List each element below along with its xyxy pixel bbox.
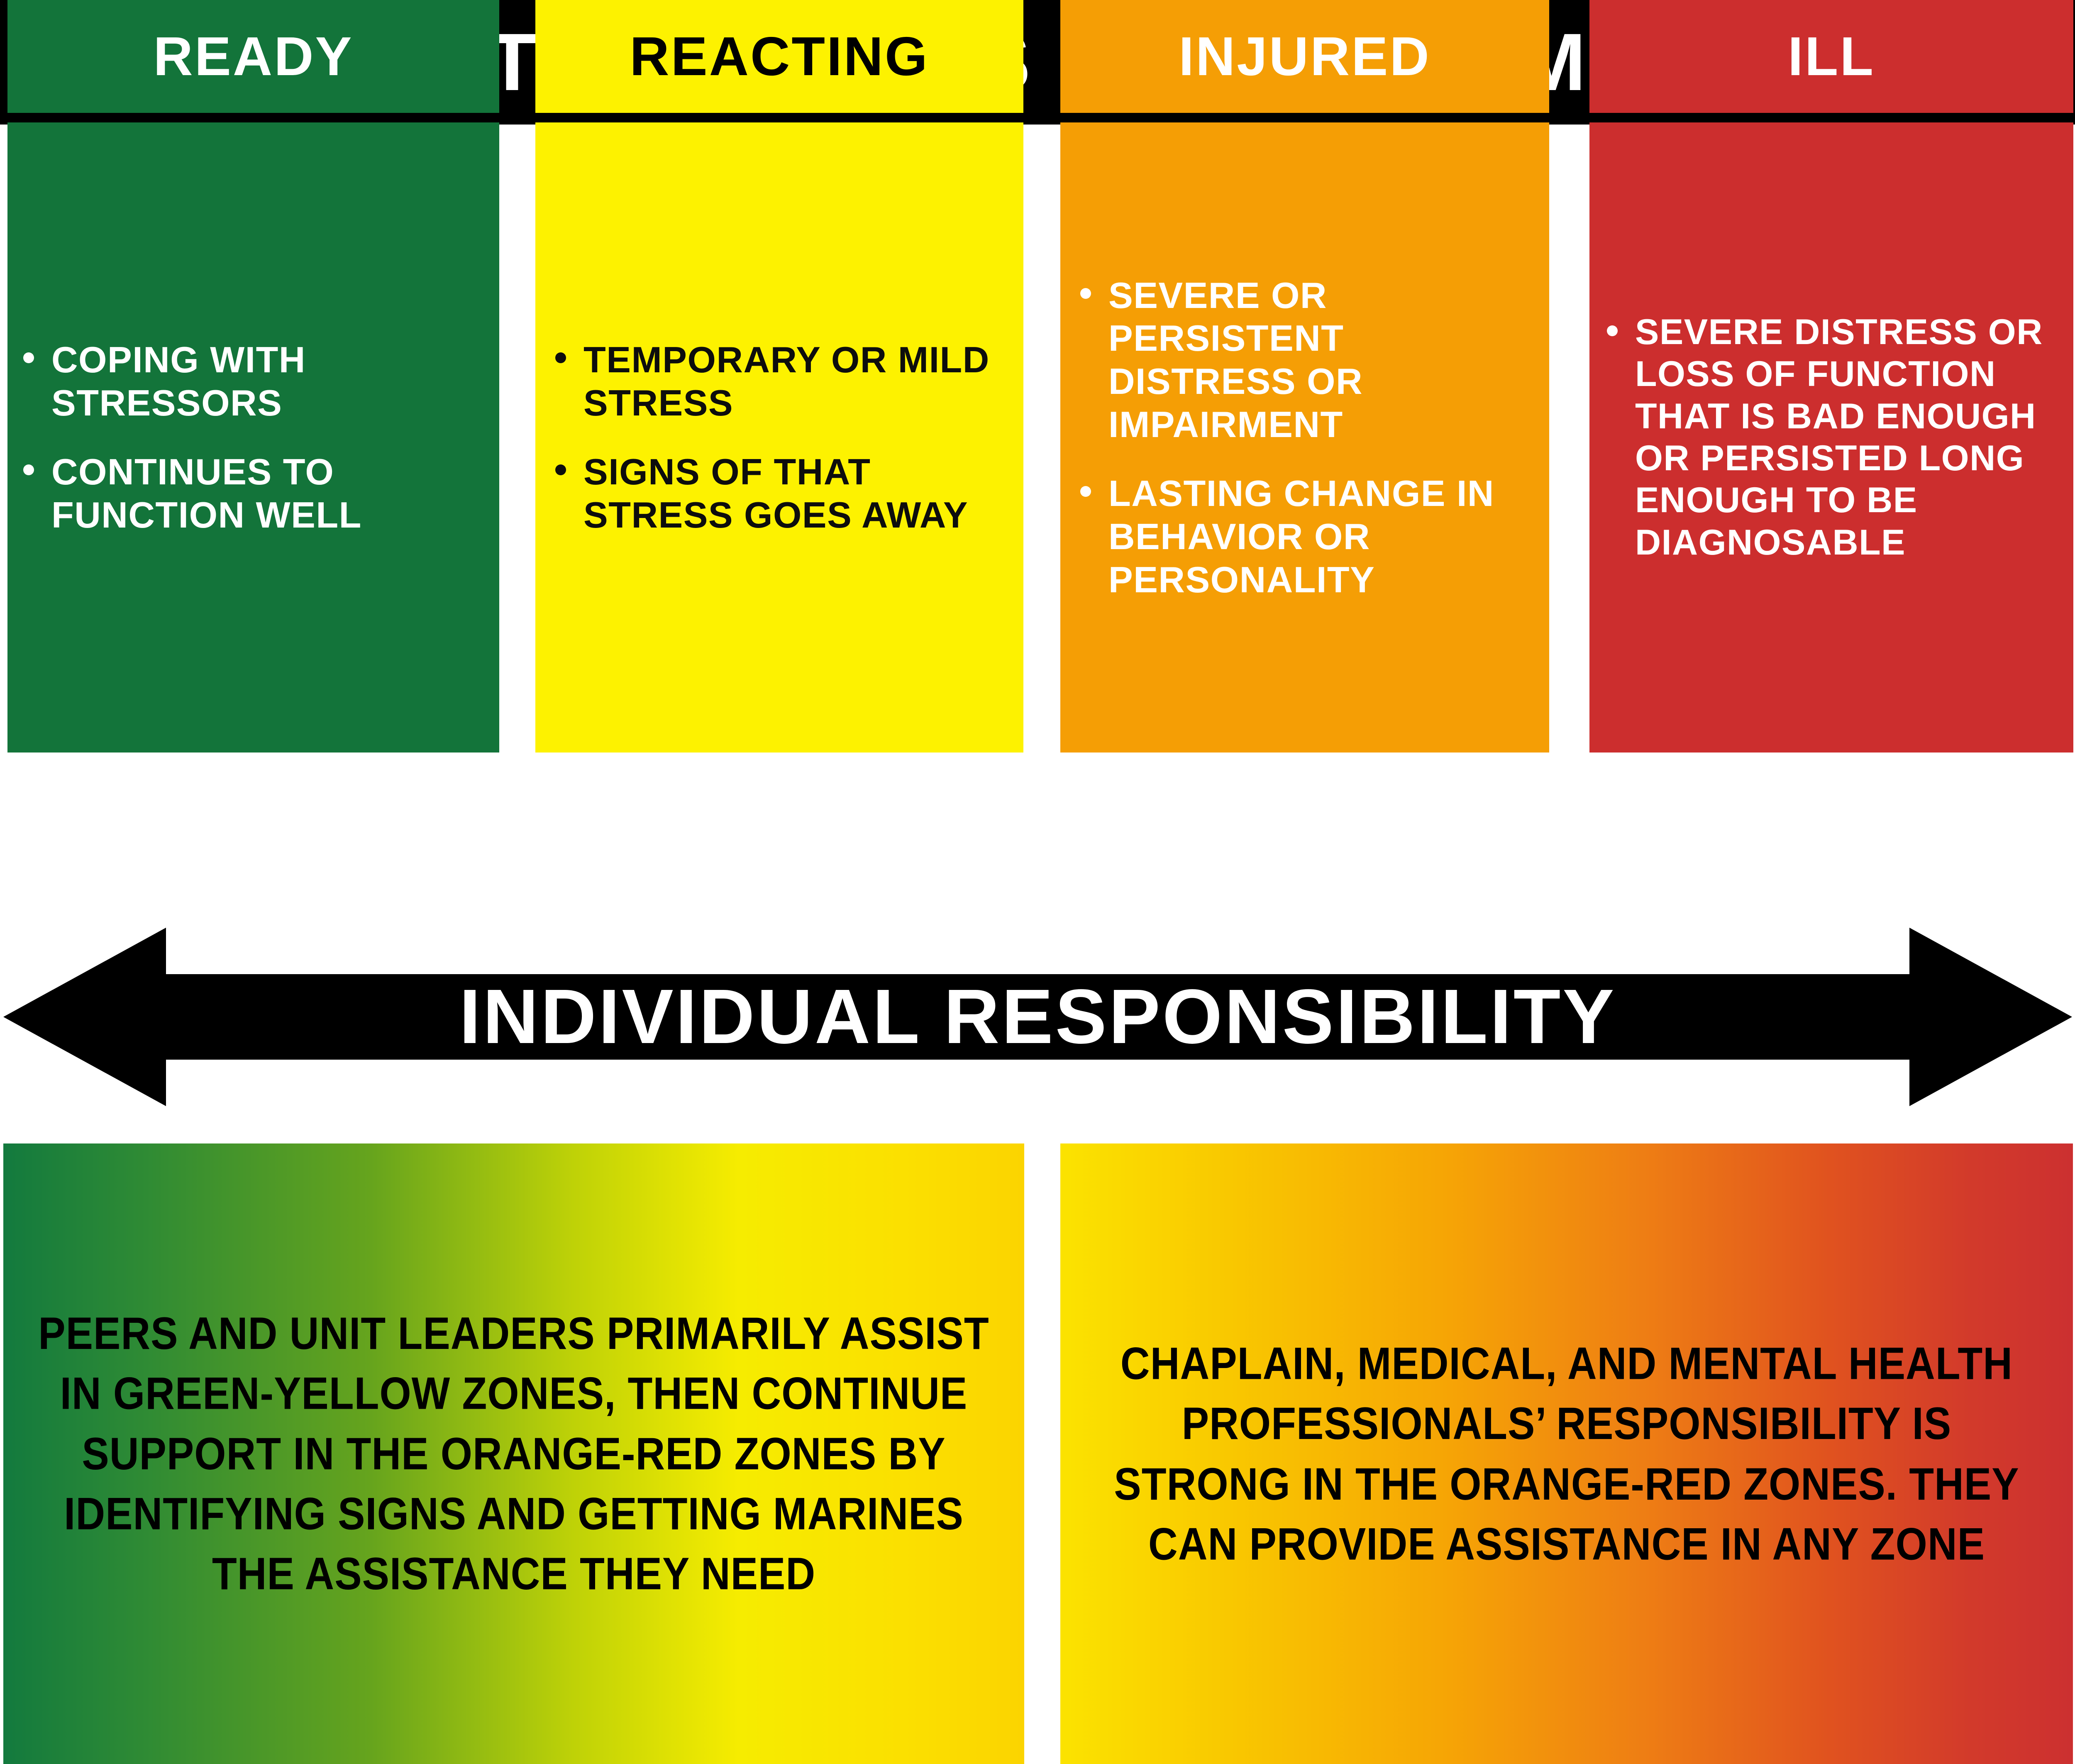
bullet-icon <box>555 464 566 475</box>
zone-list-ready: COPING WITH STRESSORS CONTINUES TO FUNCT… <box>19 338 477 536</box>
zone-body-ill: SEVERE DISTRESS OR LOSS OF FUNCTION THAT… <box>1589 122 2073 753</box>
bullet-icon <box>1607 325 1618 336</box>
list-item: CONTINUES TO FUNCTION WELL <box>19 450 477 537</box>
bullet-icon <box>23 464 34 475</box>
zone-header-ready: READY <box>7 0 499 113</box>
list-item: SIGNS OF THAT STRESS GOES AWAY <box>551 450 1001 537</box>
zone-list-injured: SEVERE OR PERSISTENT DISTRESS OR IMPAIRM… <box>1076 274 1533 601</box>
zone-label-injured: INJURED <box>1179 29 1431 84</box>
bullet-icon <box>1080 486 1091 497</box>
zone-body-injured: SEVERE OR PERSISTENT DISTRESS OR IMPAIRM… <box>1060 122 1549 753</box>
list-item-text: SEVERE OR PERSISTENT DISTRESS OR IMPAIRM… <box>1108 275 1363 445</box>
responsibility-panel-peers: PEERS AND UNIT LEADERS PRIMARILY ASSIST … <box>3 1143 1024 1764</box>
list-item: SEVERE DISTRESS OR LOSS OF FUNCTION THAT… <box>1603 311 2068 564</box>
list-item: LASTING CHANGE IN BEHAVIOR OR PERSONALIT… <box>1076 472 1533 601</box>
zone-header-injured: INJURED <box>1060 0 1549 113</box>
responsibility-text-peers: PEERS AND UNIT LEADERS PRIMARILY ASSIST … <box>28 1303 999 1604</box>
bullet-icon <box>23 352 34 363</box>
bullet-icon <box>1080 288 1091 299</box>
responsibility-panel-professionals: CHAPLAIN, MEDICAL, AND MENTAL HEALTH PRO… <box>1060 1143 2073 1764</box>
responsibility-text-professionals: CHAPLAIN, MEDICAL, AND MENTAL HEALTH PRO… <box>1094 1334 2040 1574</box>
zone-label-ill: ILL <box>1788 29 1875 84</box>
list-item-text: TEMPORARY OR MILD STRESS <box>583 339 990 423</box>
list-item-text: LASTING CHANGE IN BEHAVIOR OR PERSONALIT… <box>1108 473 1494 600</box>
zone-header-reacting: REACTING <box>535 0 1023 113</box>
zone-list-reacting: TEMPORARY OR MILD STRESS SIGNS OF THAT S… <box>551 338 1001 536</box>
list-item-text: SEVERE DISTRESS OR LOSS OF FUNCTION THAT… <box>1635 312 2043 562</box>
zone-body-ready: COPING WITH STRESSORS CONTINUES TO FUNCT… <box>7 122 499 753</box>
zone-label-reacting: REACTING <box>630 29 929 84</box>
list-item-text: SIGNS OF THAT STRESS GOES AWAY <box>583 451 968 535</box>
zone-label-ready: READY <box>153 29 353 84</box>
list-item: COPING WITH STRESSORS <box>19 338 477 425</box>
double-arrow-icon <box>0 924 2075 1110</box>
list-item: SEVERE OR PERSISTENT DISTRESS OR IMPAIRM… <box>1076 274 1533 446</box>
zone-body-reacting: TEMPORARY OR MILD STRESS SIGNS OF THAT S… <box>535 122 1023 753</box>
bullet-icon <box>555 352 566 363</box>
list-item-text: CONTINUES TO FUNCTION WELL <box>51 451 362 535</box>
individual-responsibility-arrow-banner: INDIVIDUAL RESPONSIBILITY <box>0 924 2075 1110</box>
list-item-text: COPING WITH STRESSORS <box>51 339 306 423</box>
zone-list-ill: SEVERE DISTRESS OR LOSS OF FUNCTION THAT… <box>1603 311 2068 564</box>
zone-header-ill: ILL <box>1589 0 2073 113</box>
list-item: TEMPORARY OR MILD STRESS <box>551 338 1001 425</box>
